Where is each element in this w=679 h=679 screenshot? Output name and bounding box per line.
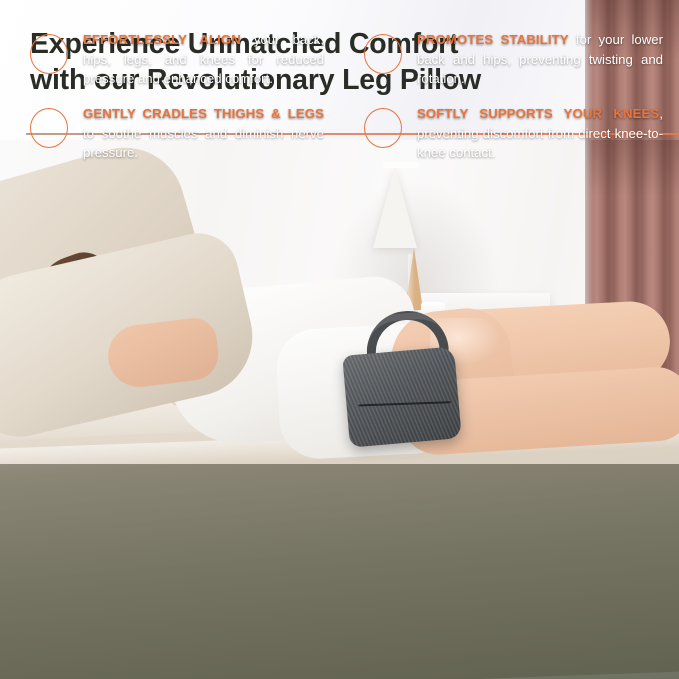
features-grid: EFFORTLESSLY ALIGN your back, hips, legs… [0, 0, 679, 215]
feature-highlight-1: EFFORTLESSLY ALIGN [83, 32, 241, 47]
circle-bullet-icon [30, 34, 68, 74]
features-overlay [0, 464, 679, 679]
feature-highlight-4: SOFTLY SUPPORTS YOUR KNEES [417, 106, 659, 121]
feature-item-3: GENTLY CRADLES THIGHS & LEGS to soothe m… [0, 104, 334, 178]
circle-bullet-icon [364, 34, 402, 74]
feature-item-2: PROMOTES STABILITY for your lower back a… [334, 30, 679, 104]
product-marketing-image: Experience Unmatched Comfort with our Re… [0, 0, 679, 679]
feature-text-3: GENTLY CRADLES THIGHS & LEGS to soothe m… [83, 104, 334, 163]
feature-item-1: EFFORTLESSLY ALIGN your back, hips, legs… [0, 30, 334, 104]
feature-text-2: PROMOTES STABILITY for your lower back a… [417, 30, 679, 89]
feature-text-4: SOFTLY SUPPORTS YOUR KNEES, preventing d… [417, 104, 679, 163]
feature-highlight-3: GENTLY CRADLES THIGHS & LEGS [83, 106, 324, 121]
circle-bullet-icon [30, 108, 68, 148]
circle-bullet-icon [364, 108, 402, 148]
feature-highlight-2: PROMOTES STABILITY [417, 32, 569, 47]
feature-item-4: SOFTLY SUPPORTS YOUR KNEES, preventing d… [334, 104, 679, 178]
feature-text-1: EFFORTLESSLY ALIGN your back, hips, legs… [83, 30, 334, 89]
feature-body-3: to soothe muscles and diminish nerve pre… [83, 126, 324, 161]
leg-pillow-product [342, 346, 462, 447]
